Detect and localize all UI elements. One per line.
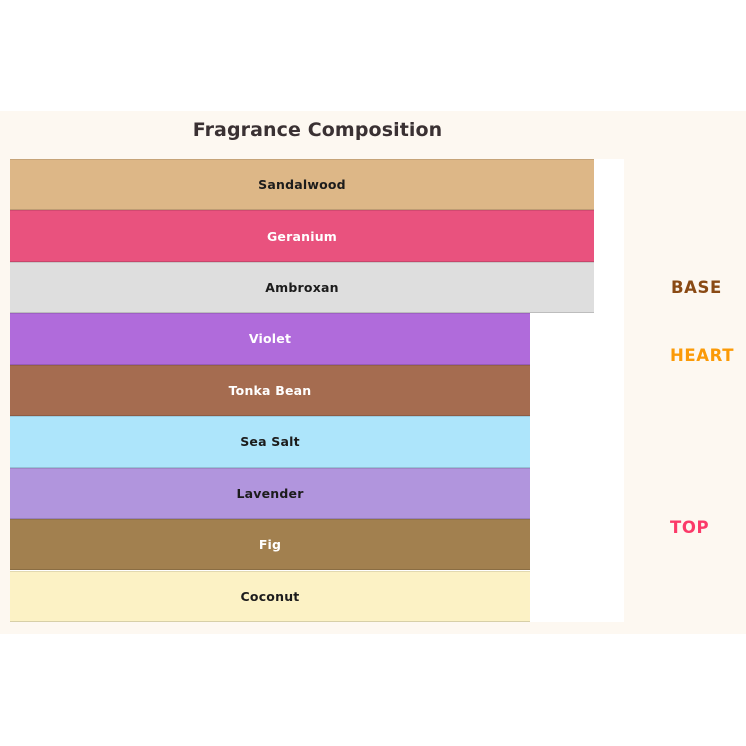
bar-label: Lavender (236, 486, 303, 501)
bar-lavender[interactable]: Lavender (10, 468, 530, 519)
bar-sea-salt[interactable]: Sea Salt (10, 416, 530, 467)
bar-label: Fig (259, 537, 281, 552)
bar-label: Sandalwood (258, 177, 346, 192)
page-title: Fragrance Composition (0, 119, 635, 141)
bar-tonka-bean[interactable]: Tonka Bean (10, 365, 530, 416)
bar-label: Geranium (267, 229, 337, 244)
bar-violet[interactable]: Violet (10, 313, 530, 364)
bar-ambroxan[interactable]: Ambroxan (10, 262, 594, 313)
chart-figure: Fragrance Composition Sandalwood Geraniu… (0, 111, 746, 634)
bar-geranium[interactable]: Geranium (10, 210, 594, 261)
bar-sandalwood[interactable]: Sandalwood (10, 159, 594, 210)
plot-area: Sandalwood Geranium Ambroxan Violet Tonk… (10, 159, 624, 622)
bar-label: Coconut (241, 589, 300, 604)
bar-fig[interactable]: Fig (10, 519, 530, 570)
bar-label: Violet (249, 331, 291, 346)
bar-label: Sea Salt (240, 434, 300, 449)
bar-label: Tonka Bean (229, 383, 312, 398)
group-annotation-heart: HEART (670, 346, 734, 365)
bar-label: Ambroxan (265, 280, 338, 295)
group-annotation-top: TOP (670, 518, 709, 537)
group-annotation-base: BASE (671, 278, 722, 297)
bar-coconut[interactable]: Coconut (10, 571, 530, 622)
